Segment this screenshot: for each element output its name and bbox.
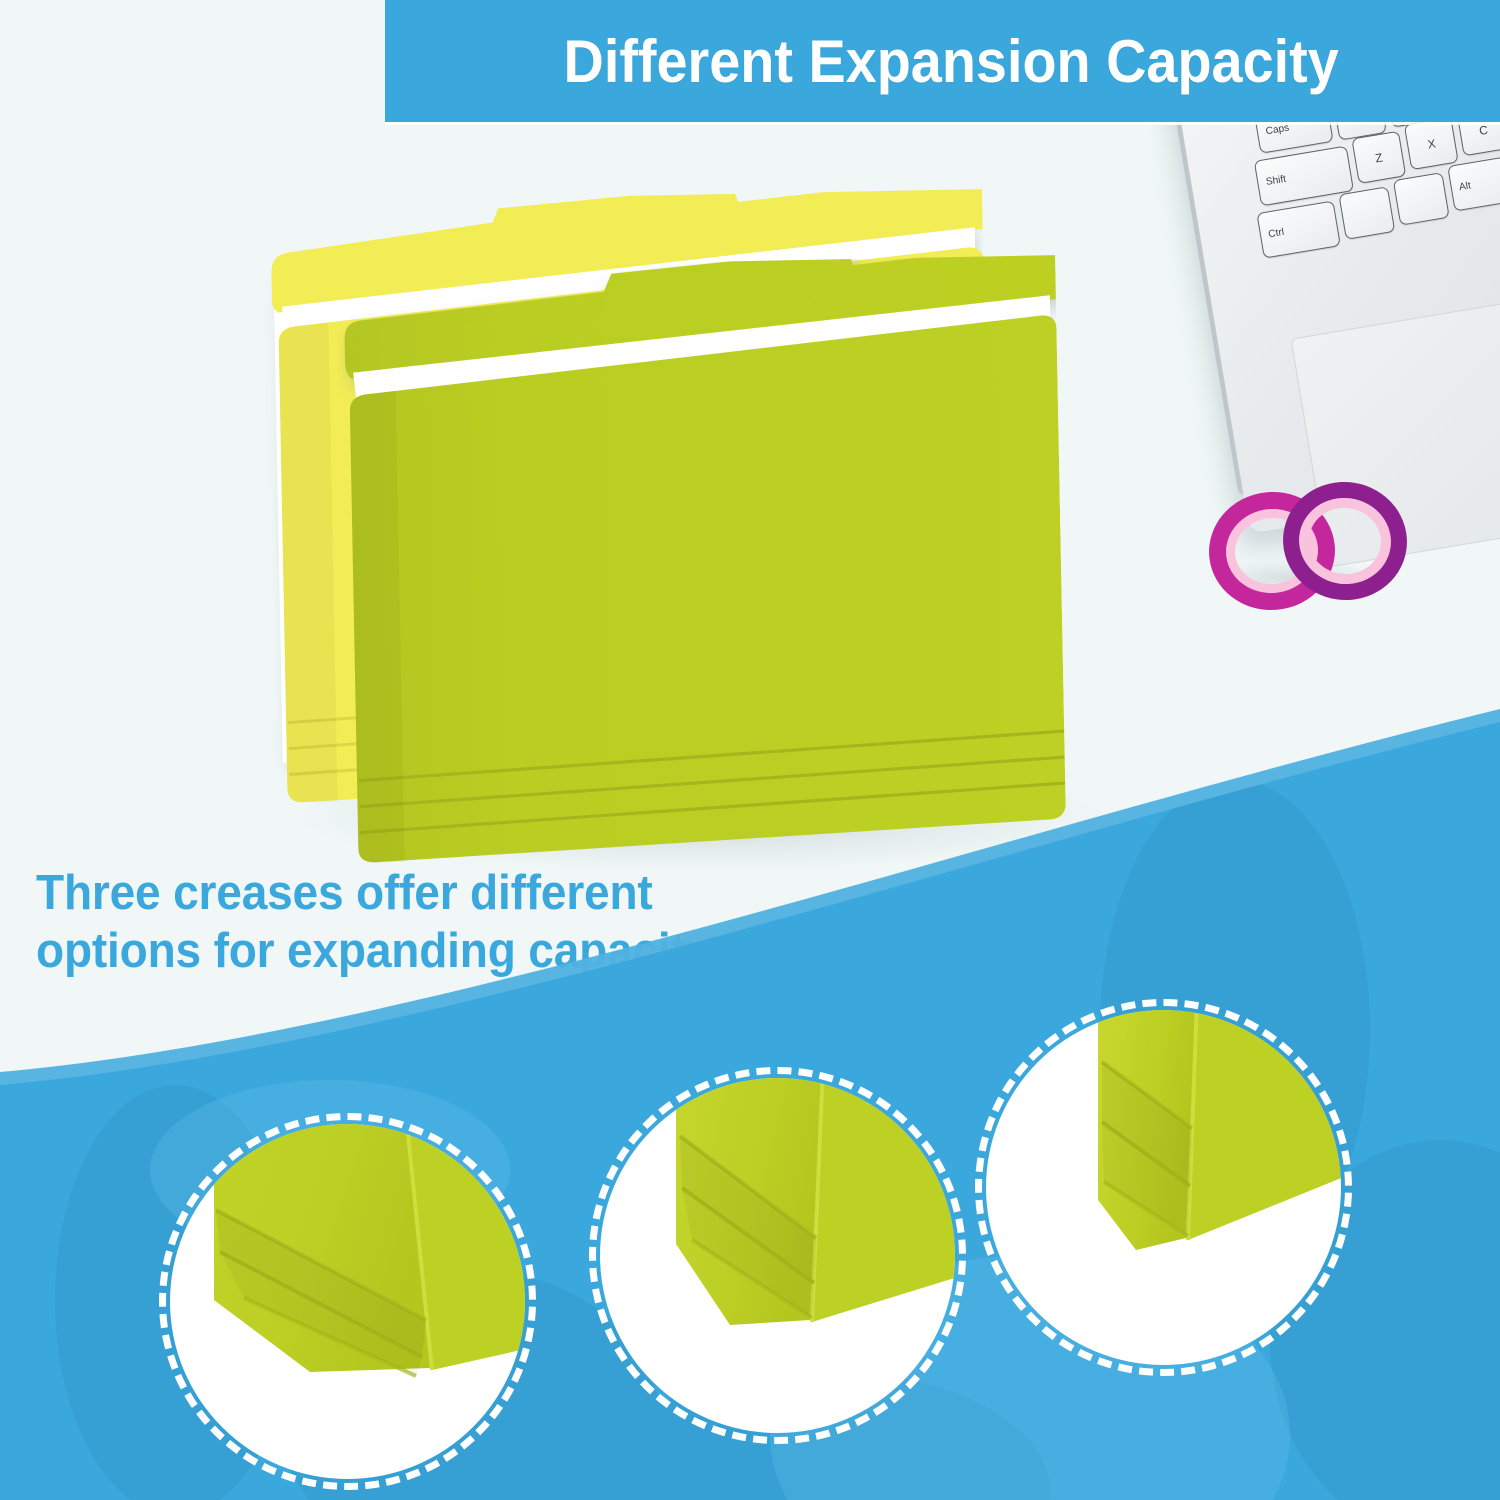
crease-detail-medium[interactable] — [600, 1078, 955, 1433]
infographic-canvas: Caps Shift Z X C Ctrl Alt — [0, 0, 1500, 1500]
key-fn — [1338, 186, 1395, 240]
crease-detail-narrow[interactable] — [986, 1010, 1341, 1365]
crease-detail-widest-graphic — [170, 1124, 525, 1479]
key-c: C — [1456, 122, 1500, 156]
crease-detail-medium-graphic — [600, 1078, 955, 1433]
key-alt: Alt — [1447, 156, 1500, 212]
crease-detail-widest[interactable] — [170, 1124, 525, 1479]
key-z: Z — [1351, 131, 1406, 184]
page-title: Different Expansion Capacity — [547, 27, 1339, 96]
key-win — [1393, 172, 1450, 226]
header-banner: Different Expansion Capacity — [385, 0, 1500, 122]
key-ctrl: Ctrl — [1256, 200, 1341, 258]
key-x: X — [1404, 122, 1459, 170]
crease-detail-narrow-graphic — [986, 1010, 1341, 1365]
